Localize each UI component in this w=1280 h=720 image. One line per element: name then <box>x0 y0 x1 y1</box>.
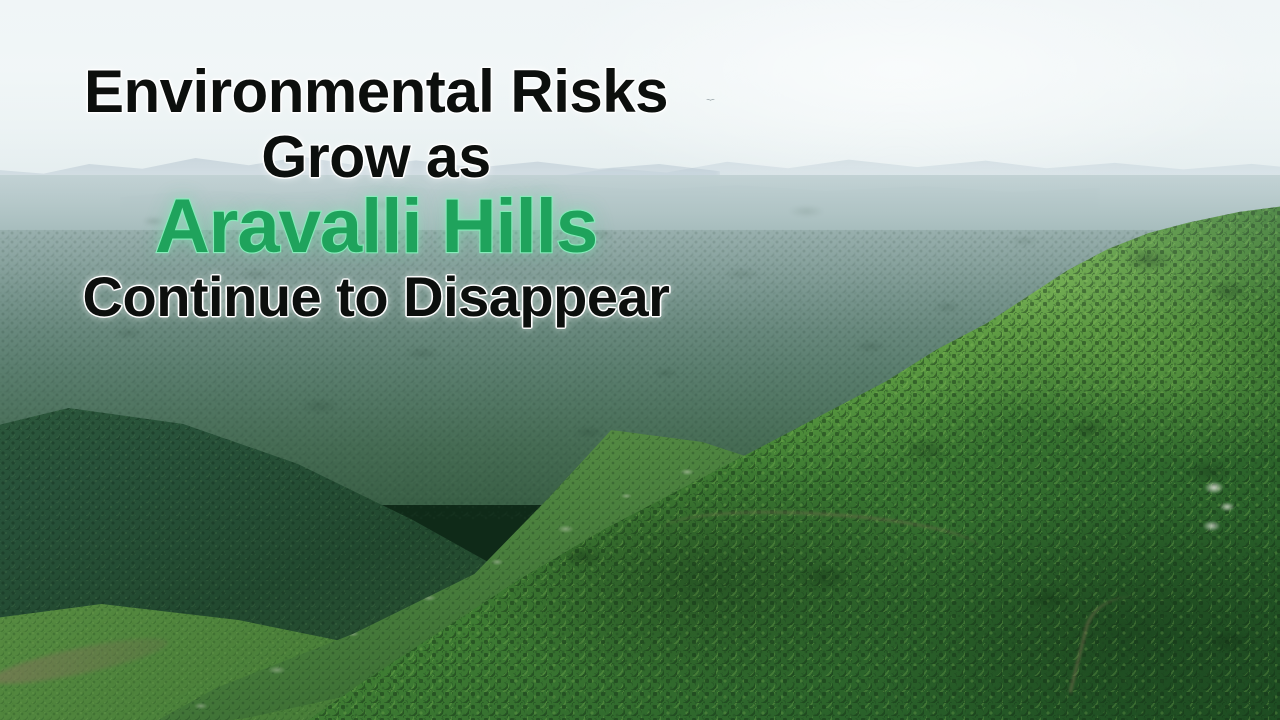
headline-line-3-highlight: Aravalli Hills <box>36 189 716 265</box>
headline-line-4: Continue to Disappear <box>36 269 716 325</box>
headline-overlay: Environmental Risks Grow as Aravalli Hil… <box>36 62 716 325</box>
headline-line-2: Grow as <box>36 128 716 187</box>
headline-line-1: Environmental Risks <box>36 62 716 122</box>
exposed-rock-patch <box>1190 470 1250 550</box>
screenshot-canvas: Environmental Risks Grow as Aravalli Hil… <box>0 0 1280 720</box>
